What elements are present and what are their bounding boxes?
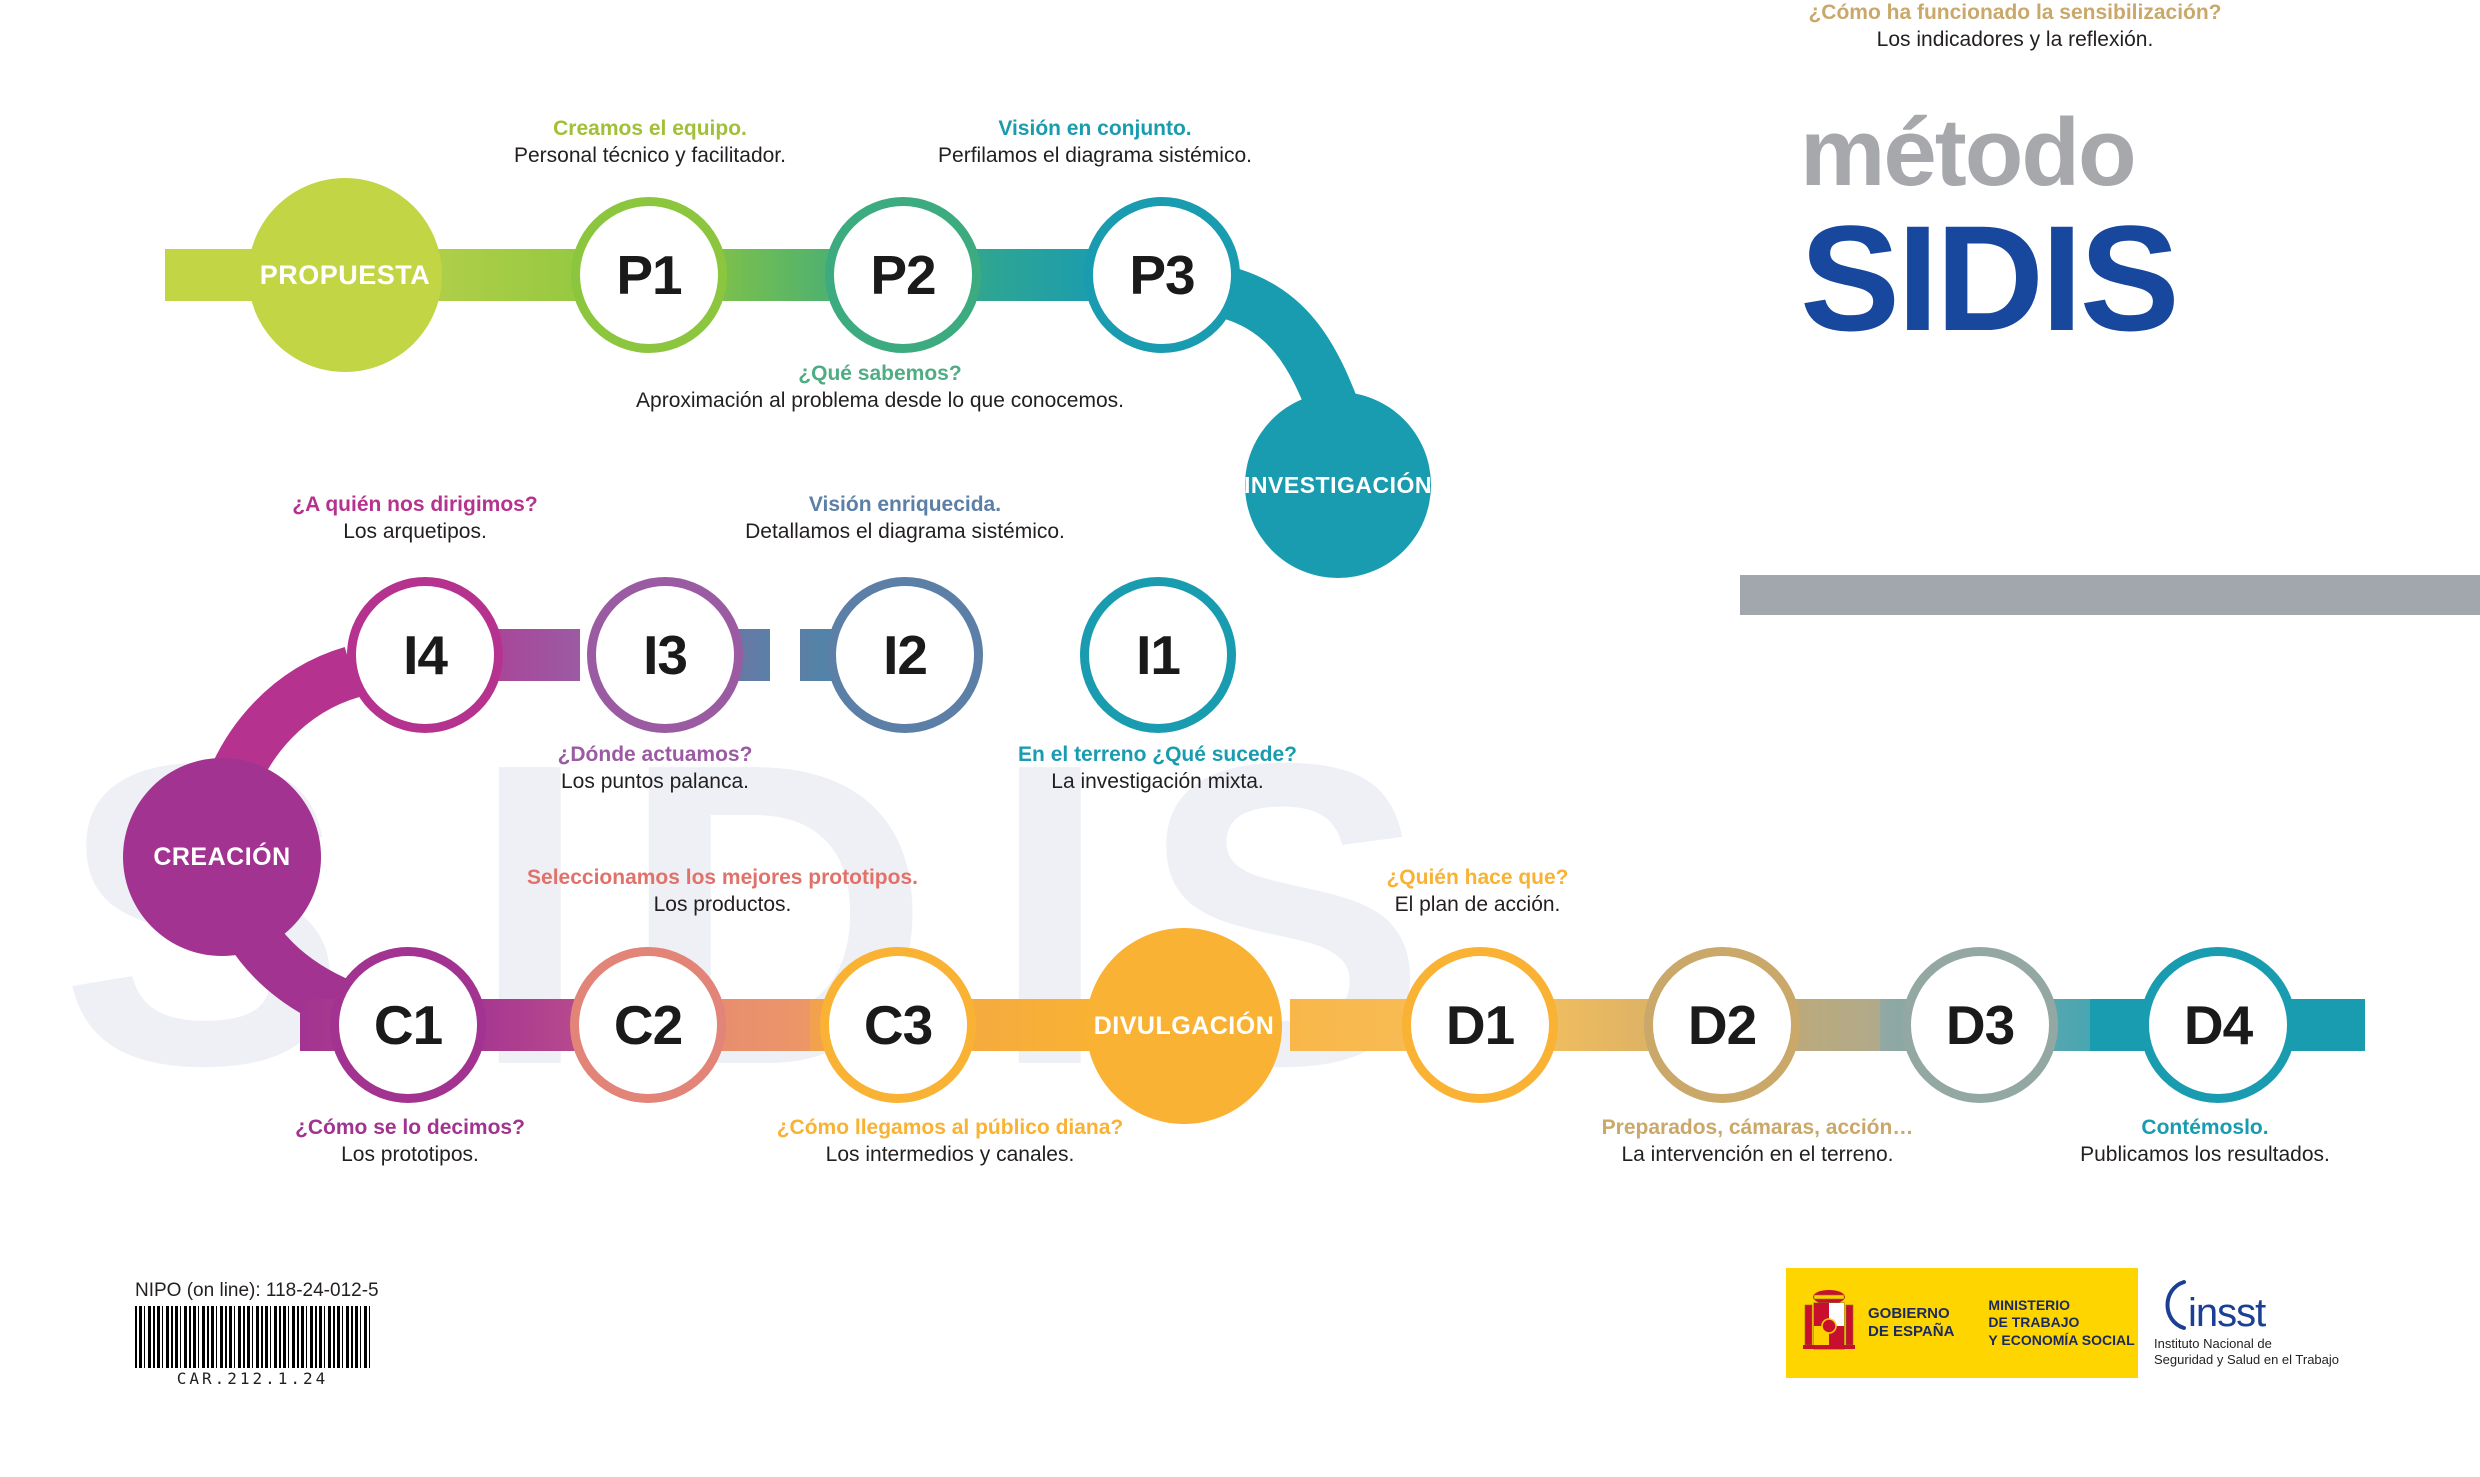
title-sidis: SIDIS: [1800, 203, 2177, 353]
insst-sub-line2: Seguridad y Salud en el Trabajo: [2154, 1352, 2381, 1368]
node-d3-label: D3: [1946, 993, 2014, 1057]
caption-d1-subtitle: El plan de acción.: [1190, 892, 1765, 919]
insst-sub-line1: Instituto Nacional de: [2154, 1336, 2381, 1352]
caption-p2-subtitle: Aproximación al problema desde lo que co…: [600, 388, 1160, 415]
node-p1-label: P1: [616, 243, 681, 307]
caption-i3-title: ¿Dónde actuamos?: [415, 742, 895, 769]
node-i4-label: I4: [403, 623, 447, 687]
caption-i4: ¿A quién nos dirigimos? Los arquetipos.: [165, 492, 665, 546]
caption-c3-title: ¿Cómo llegamos al público diana?: [610, 1115, 1290, 1142]
infographic-canvas: S I D I S: [0, 0, 2480, 1477]
node-c3[interactable]: C3: [820, 947, 976, 1103]
caption-d1-title: ¿Quién hace que?: [1190, 865, 1765, 892]
node-i1-label: I1: [1136, 623, 1180, 687]
caption-p2: ¿Qué sabemos? Aproximación al problema d…: [600, 361, 1160, 415]
insst-wordmark: insst: [2154, 1279, 2381, 1331]
caption-c1-title: ¿Cómo se lo decimos?: [160, 1115, 660, 1142]
node-i4[interactable]: I4: [347, 577, 503, 733]
caption-i1-subtitle: La investigación mixta.: [855, 769, 1460, 796]
node-p2-label: P2: [870, 243, 935, 307]
node-p2[interactable]: P2: [825, 197, 981, 353]
caption-p3: Visión en conjunto. Perfilamos el diagra…: [785, 116, 1405, 170]
ministerio-line2: DE TRABAJO: [1988, 1314, 2134, 1331]
caption-i2-subtitle: Detallamos el diagrama sistémico.: [605, 519, 1205, 546]
barcode-image: [135, 1306, 370, 1368]
node-i3[interactable]: I3: [587, 577, 743, 733]
gobierno-line1: GOBIERNO: [1868, 1305, 1954, 1323]
node-i2-label: I2: [883, 623, 927, 687]
node-p3-label: P3: [1129, 243, 1194, 307]
node-i3-label: I3: [643, 623, 687, 687]
caption-p2-title: ¿Qué sabemos?: [600, 361, 1160, 388]
node-d1-label: D1: [1446, 993, 1514, 1057]
caption-p3-title: Visión en conjunto.: [785, 116, 1405, 143]
coat-of-arms-icon: [1800, 1285, 1858, 1361]
caption-i4-title: ¿A quién nos dirigimos?: [165, 492, 665, 519]
caption-i1: En el terreno ¿Qué sucede? La investigac…: [855, 742, 1460, 796]
stage-propuesta-label: PROPUESTA: [260, 260, 431, 291]
page-title: método SIDIS: [1800, 105, 2177, 353]
node-c2[interactable]: C2: [570, 947, 726, 1103]
stage-creacion[interactable]: CREACIÓN: [123, 758, 321, 956]
node-c1-label: C1: [374, 993, 442, 1057]
caption-d1: ¿Quién hace que? El plan de acción.: [1190, 865, 1765, 919]
gobierno-text: GOBIERNO DE ESPAÑA: [1868, 1305, 1954, 1342]
ministerio-line3: Y ECONOMÍA SOCIAL: [1988, 1332, 2134, 1349]
stage-propuesta[interactable]: PROPUESTA: [248, 178, 442, 372]
caption-d3-subtitle: Los indicadores y la reflexión.: [1660, 27, 2370, 54]
caption-i3-subtitle: Los puntos palanca.: [415, 769, 895, 796]
node-d2[interactable]: D2: [1644, 947, 1800, 1103]
stage-creacion-label: CREACIÓN: [153, 843, 290, 872]
grey-divider-bar: [1740, 575, 2480, 615]
title-metodo: método: [1800, 105, 2177, 201]
node-i2[interactable]: I2: [827, 577, 983, 733]
caption-c2: Seleccionamos los mejores prototipos. Lo…: [390, 865, 1055, 919]
caption-d4-subtitle: Publicamos los resultados.: [1925, 1142, 2480, 1169]
stage-investigacion-label: INVESTIGACIÓN: [1244, 472, 1432, 499]
node-d2-label: D2: [1688, 993, 1756, 1057]
ministerio-line1: MINISTERIO: [1988, 1297, 2134, 1314]
caption-c1: ¿Cómo se lo decimos? Los prototipos.: [160, 1115, 660, 1169]
caption-i4-subtitle: Los arquetipos.: [165, 519, 665, 546]
nipo-block: NIPO (on line): 118-24-012-5 CAR.212.1.2…: [135, 1280, 379, 1388]
caption-c1-subtitle: Los prototipos.: [160, 1142, 660, 1169]
insst-arc-icon: [2154, 1279, 2188, 1331]
nipo-label: NIPO (on line): 118-24-012-5: [135, 1280, 379, 1302]
barcode-text: CAR.212.1.24: [135, 1369, 370, 1388]
caption-d4: Contémoslo. Publicamos los resultados.: [1925, 1115, 2480, 1169]
caption-i3: ¿Dónde actuamos? Los puntos palanca.: [415, 742, 895, 796]
caption-c3-subtitle: Los intermedios y canales.: [610, 1142, 1290, 1169]
caption-d3-title: ¿Cómo ha funcionado la sensibilización?: [1660, 0, 2370, 27]
node-d4[interactable]: D4: [2140, 947, 2296, 1103]
gobierno-de-espana-logo: GOBIERNO DE ESPAÑA MINISTERIO DE TRABAJO…: [1786, 1268, 2138, 1378]
node-c2-label: C2: [614, 993, 682, 1057]
insst-subtitle: Instituto Nacional de Seguridad y Salud …: [2154, 1336, 2381, 1367]
stage-investigacion[interactable]: INVESTIGACIÓN: [1245, 392, 1431, 578]
stage-divulgacion-label: DIVULGACIÓN: [1094, 1012, 1275, 1041]
node-p1[interactable]: P1: [571, 197, 727, 353]
caption-c3: ¿Cómo llegamos al público diana? Los int…: [610, 1115, 1290, 1169]
caption-c2-subtitle: Los productos.: [390, 892, 1055, 919]
caption-p3-subtitle: Perfilamos el diagrama sistémico.: [785, 143, 1405, 170]
insst-logo: insst Instituto Nacional de Seguridad y …: [2138, 1268, 2381, 1378]
caption-i2-title: Visión enriquecida.: [605, 492, 1205, 519]
logo-bar: GOBIERNO DE ESPAÑA MINISTERIO DE TRABAJO…: [1786, 1268, 2381, 1378]
insst-word: insst: [2188, 1295, 2265, 1331]
node-c1[interactable]: C1: [330, 947, 486, 1103]
caption-i2: Visión enriquecida. Detallamos el diagra…: [605, 492, 1205, 546]
node-i1[interactable]: I1: [1080, 577, 1236, 733]
node-d4-label: D4: [2184, 993, 2252, 1057]
caption-d3: ¿Cómo ha funcionado la sensibilización? …: [1660, 0, 2370, 54]
stage-divulgacion[interactable]: DIVULGACIÓN: [1086, 928, 1282, 1124]
caption-d4-title: Contémoslo.: [1925, 1115, 2480, 1142]
gobierno-line2: DE ESPAÑA: [1868, 1323, 1954, 1341]
node-p3[interactable]: P3: [1084, 197, 1240, 353]
caption-i1-title: En el terreno ¿Qué sucede?: [855, 742, 1460, 769]
ministerio-text: MINISTERIO DE TRABAJO Y ECONOMÍA SOCIAL: [1988, 1297, 2134, 1348]
node-d3[interactable]: D3: [1902, 947, 2058, 1103]
caption-c2-title: Seleccionamos los mejores prototipos.: [390, 865, 1055, 892]
node-c3-label: C3: [864, 993, 932, 1057]
node-d1[interactable]: D1: [1402, 947, 1558, 1103]
